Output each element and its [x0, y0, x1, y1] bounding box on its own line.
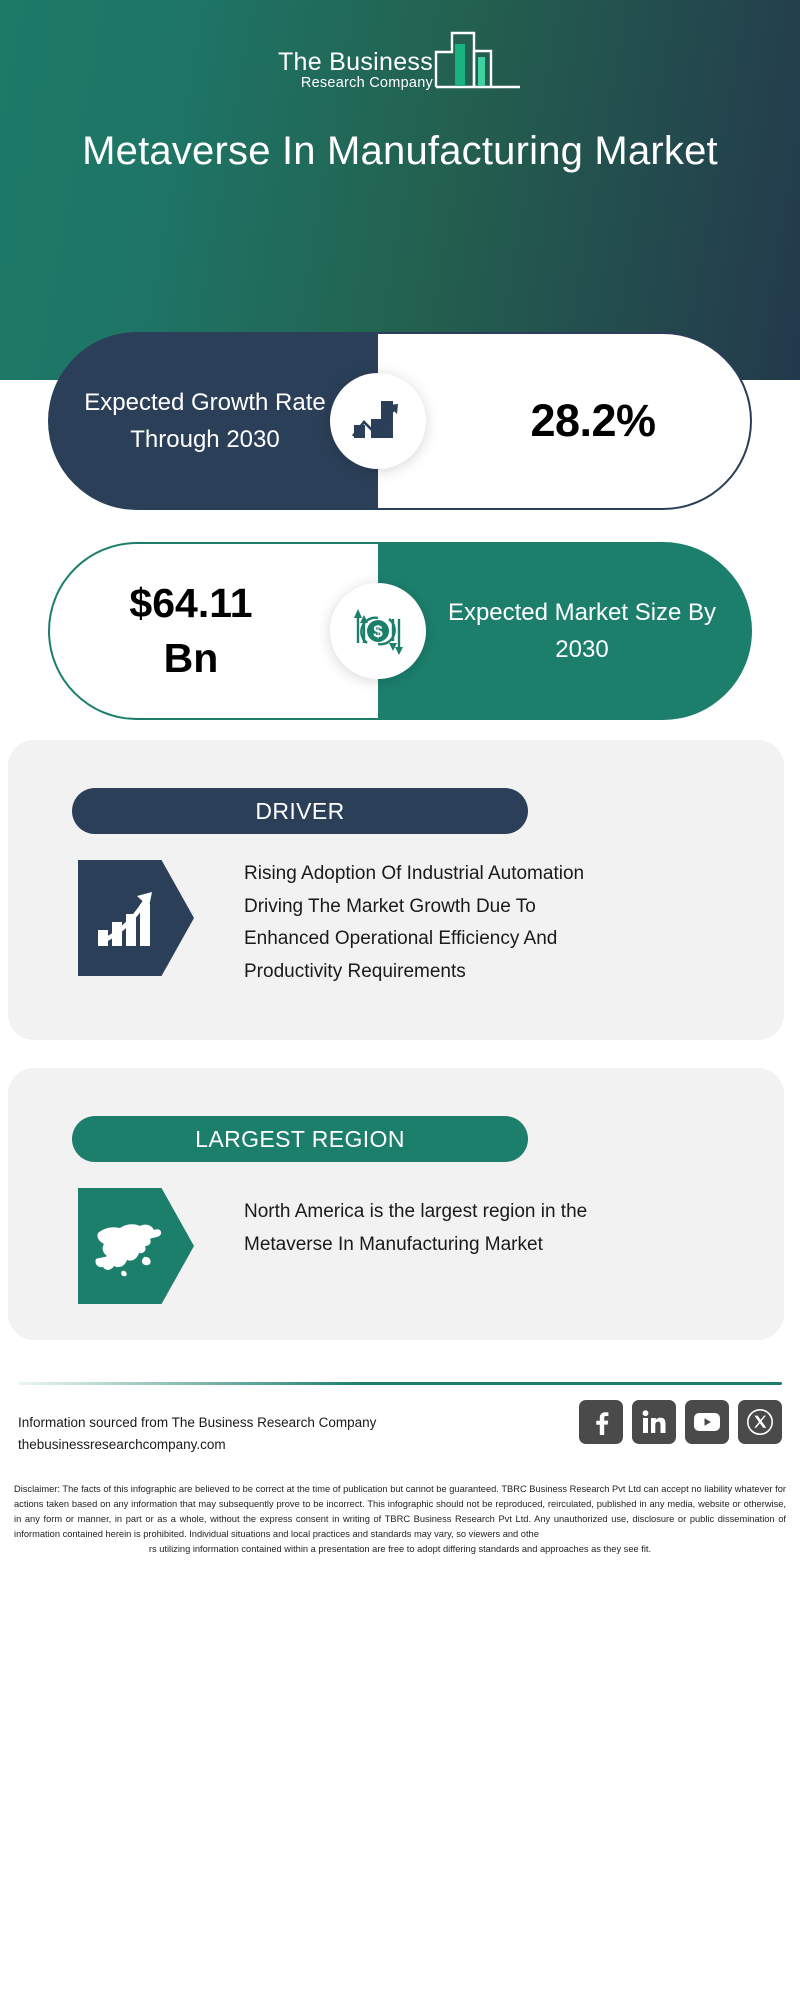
stat-card-market-size: $64.11 Bn Expected Market Size By 2030 $ [48, 542, 752, 720]
company-logo: The Business Research Company [0, 24, 800, 101]
stat-value-line1: $64.11 [129, 576, 252, 631]
driver-heading: DRIVER [255, 798, 344, 825]
driver-heading-pill: DRIVER [72, 788, 528, 834]
disclaimer-text: Disclaimer: The facts of this infographi… [14, 1482, 786, 1557]
youtube-icon[interactable] [685, 1400, 729, 1444]
social-links [579, 1400, 782, 1444]
infographic-page: The Business Research Company [0, 0, 800, 2000]
north-america-map-icon [78, 1188, 194, 1304]
logo-subtitle: Research Company [301, 75, 433, 92]
bar-chart-logo-mark [434, 24, 522, 101]
x-twitter-icon[interactable] [738, 1400, 782, 1444]
header-banner: The Business Research Company [0, 0, 800, 380]
region-heading-pill: LARGEST REGION [72, 1116, 528, 1162]
stat-value-container: 28.2% [378, 332, 752, 510]
disclaimer-main: Disclaimer: The facts of this infographi… [14, 1484, 786, 1539]
region-body: North America is the largest region in t… [244, 1196, 604, 1261]
driver-panel: DRIVER Rising Adoption Of Industrial Aut… [8, 740, 784, 1040]
logo-title: The Business [278, 49, 433, 75]
stat-value: 28.2% [530, 395, 655, 447]
footer-divider [18, 1382, 782, 1385]
dollar-cycle-icon: $ [330, 583, 426, 679]
source-line-1: Information sourced from The Business Re… [18, 1412, 376, 1434]
growth-chart-arrow-icon [330, 373, 426, 469]
stat-value-line2: Bn [164, 631, 219, 686]
facebook-icon[interactable] [579, 1400, 623, 1444]
source-info: Information sourced from The Business Re… [18, 1412, 376, 1456]
stat-card-growth-rate: Expected Growth Rate Through 2030 28.2% [48, 332, 752, 510]
stat-label: Expected Growth Rate Through 2030 [48, 332, 378, 510]
stat-label: Expected Market Size By 2030 [378, 542, 752, 720]
largest-region-panel: LARGEST REGION North America is the larg… [8, 1068, 784, 1340]
region-heading: LARGEST REGION [195, 1126, 405, 1153]
linkedin-icon[interactable] [632, 1400, 676, 1444]
stat-value-container: $64.11 Bn [48, 542, 378, 720]
growth-arrow-icon [78, 860, 194, 976]
driver-body: Rising Adoption Of Industrial Automation… [244, 858, 604, 989]
disclaimer-last-line: rs utilizing information contained withi… [14, 1542, 786, 1557]
source-line-2[interactable]: thebusinessresearchcompany.com [18, 1434, 376, 1456]
page-title: Metaverse In Manufacturing Market [40, 125, 760, 178]
svg-text:$: $ [373, 622, 383, 641]
